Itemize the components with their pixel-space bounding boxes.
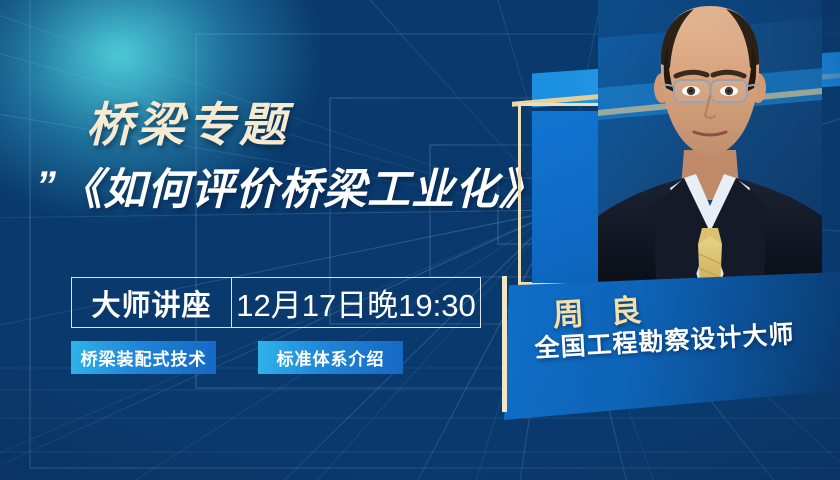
quote-open-icon: ” <box>36 170 53 202</box>
speaker-card-edge <box>502 276 507 412</box>
topic-tag[interactable]: 桥梁装配式技术 <box>71 341 216 374</box>
lecture-subtitle: 《如何评价桥梁工业化》 <box>59 168 543 213</box>
session-info-bar: 大师讲座 12月17日晚19:30 <box>71 277 481 328</box>
session-datetime: 12月17日晚19:30 <box>232 278 480 327</box>
lecture-poster: 桥梁专题 ” 《如何评价桥梁工业化》 ” 大师讲座 12月17日晚19:30 桥… <box>0 0 840 480</box>
speaker-portrait <box>598 0 822 292</box>
topic-tag[interactable]: 标准体系介绍 <box>258 341 403 374</box>
page-title: 桥梁专题 <box>86 101 290 148</box>
session-label: 大师讲座 <box>72 278 232 327</box>
topic-tag-list: 桥梁装配式技术 标准体系介绍 <box>71 341 403 374</box>
subtitle-row: ” 《如何评价桥梁工业化》 ” <box>36 168 562 213</box>
speaker-composition: 周 良 全国工程勘察设计大师 <box>490 0 840 480</box>
